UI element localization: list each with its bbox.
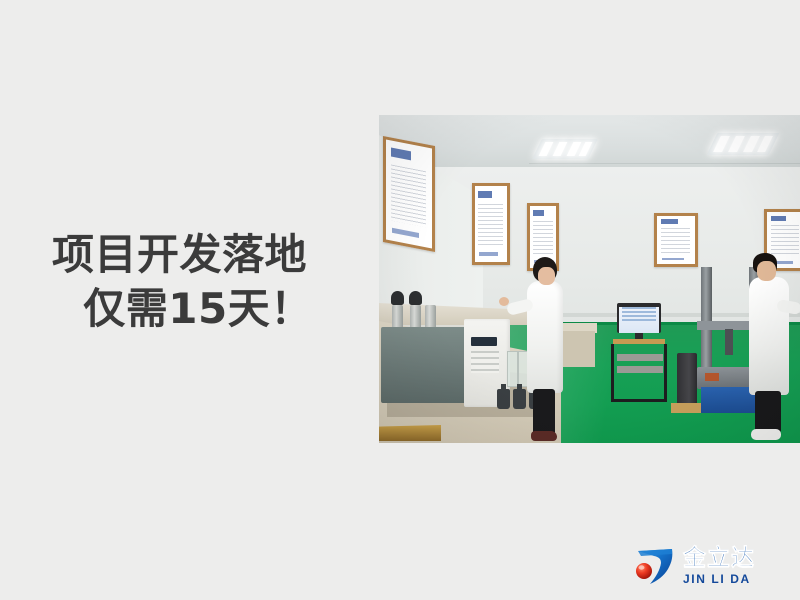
framed-certificate <box>383 136 435 252</box>
computer-workstation <box>607 303 671 407</box>
lab-instrument-dark <box>381 327 469 403</box>
headline-block: 项目开发落地 仅需15天！ <box>52 228 352 336</box>
ceiling-light-right <box>707 133 780 155</box>
logo-chinese-name: 金立达 <box>683 547 755 570</box>
logo-swoosh-icon <box>632 545 676 587</box>
instrument-knobs <box>471 351 499 373</box>
ceiling-seam <box>529 163 800 164</box>
legs <box>755 391 781 433</box>
reagent-bottle <box>497 389 510 409</box>
shoes <box>531 431 557 441</box>
glassware <box>507 351 518 387</box>
lab-coat <box>527 281 563 393</box>
slide-canvas: 项目开发落地 仅需15天！ <box>0 0 800 600</box>
framed-certificate <box>472 183 510 265</box>
legs <box>533 389 555 435</box>
column-cap <box>409 291 422 305</box>
logo-wordmark: 金立达 JIN LI DA <box>683 547 755 585</box>
tool-tray <box>379 425 441 441</box>
headline-line-2: 仅需15天！ <box>52 282 352 336</box>
laboratory-photo <box>379 115 800 443</box>
male-technician <box>747 253 793 443</box>
monitor-stand <box>635 333 643 339</box>
shoes <box>751 429 781 440</box>
logo-pinyin-name: JIN LI DA <box>683 573 755 585</box>
monitor <box>617 303 661 333</box>
computer-tower <box>677 353 697 405</box>
ceiling-light-left <box>532 139 598 159</box>
utm-column <box>701 267 712 371</box>
headline-line-1: 项目开发落地 <box>52 228 352 282</box>
female-technician <box>521 257 567 443</box>
hand <box>499 297 509 306</box>
face <box>757 261 776 281</box>
framed-certificate <box>654 213 698 267</box>
face <box>538 267 555 285</box>
cart-worktop <box>613 339 665 344</box>
utm-control-panel <box>705 373 719 381</box>
column-cap <box>391 291 404 305</box>
photo-scene <box>379 115 800 443</box>
instrument-display <box>471 337 497 346</box>
utm-grip <box>725 329 733 355</box>
monitor-screen <box>619 307 659 333</box>
lab-coat <box>749 277 789 395</box>
equipment-cart <box>611 344 667 402</box>
company-logo: 金立达 JIN LI DA <box>632 543 784 589</box>
